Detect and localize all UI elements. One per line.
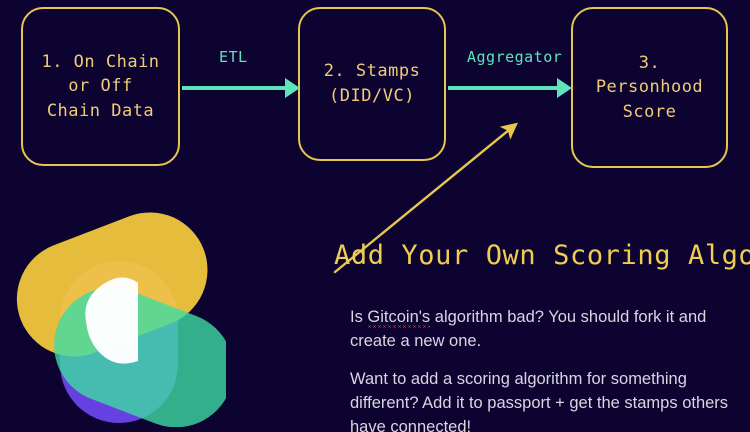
- arrow-shaft: [448, 86, 557, 90]
- flow-box-label: 1. On Chain or Off Chain Data: [41, 50, 159, 124]
- callout-paragraph-add-a-scoring-algorithm: Want to add a scoring algorithm for some…: [350, 367, 742, 432]
- misspelled-word: Gitcoin's: [367, 308, 430, 328]
- arrow-shaft: [182, 86, 285, 90]
- paragraph-prefix: Is: [350, 308, 367, 326]
- arrow-head-icon: [557, 78, 572, 98]
- flow-box-stamps: 2. Stamps (DID/VC): [298, 7, 446, 161]
- flow-box-personhood-score: 3. Personhood Score: [571, 7, 728, 168]
- connector-arrow-etl: [182, 78, 300, 98]
- flow-box-on-chain-or-off-chain-data: 1. On Chain or Off Chain Data: [21, 7, 180, 166]
- flow-box-label: 3. Personhood Score: [596, 51, 703, 125]
- gitcoin-passport-logo: [14, 203, 226, 427]
- slide-canvas: 1. On Chain or Off Chain Data 2. Stamps …: [0, 0, 750, 432]
- arrow-head-icon: [285, 78, 300, 98]
- connector-arrow-aggregator: [448, 78, 572, 98]
- callout-paragraph-fork-the-algorithm: Is Gitcoin's algorithm bad? You should f…: [350, 305, 742, 354]
- connector-label-etl: ETL: [219, 48, 248, 66]
- flow-box-label: 2. Stamps (DID/VC): [324, 59, 421, 108]
- connector-label-aggregator: Aggregator: [467, 48, 562, 66]
- callout-heading: Add Your Own Scoring Algo: [334, 240, 750, 271]
